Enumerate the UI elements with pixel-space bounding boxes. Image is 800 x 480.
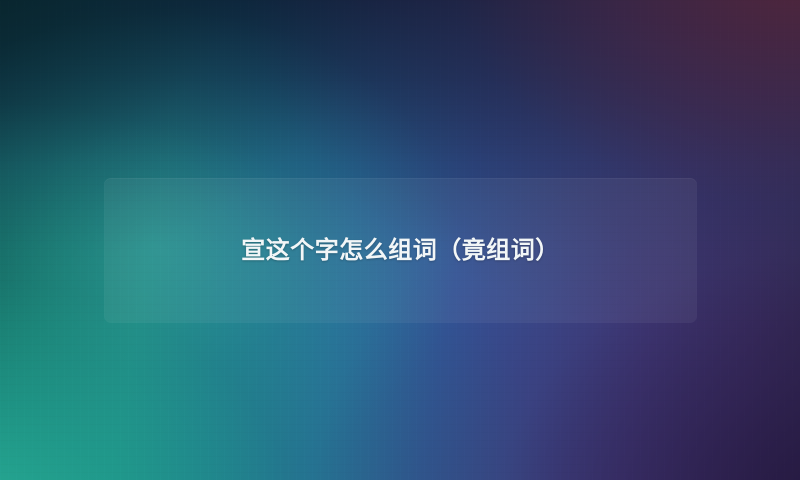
gradient-banner: 宣这个字怎么组词（竟组词） (0, 0, 800, 480)
title-card-panel: 宣这个字怎么组词（竟组词） (104, 178, 697, 323)
card-title-text: 宣这个字怎么组词（竟组词） (241, 239, 560, 263)
